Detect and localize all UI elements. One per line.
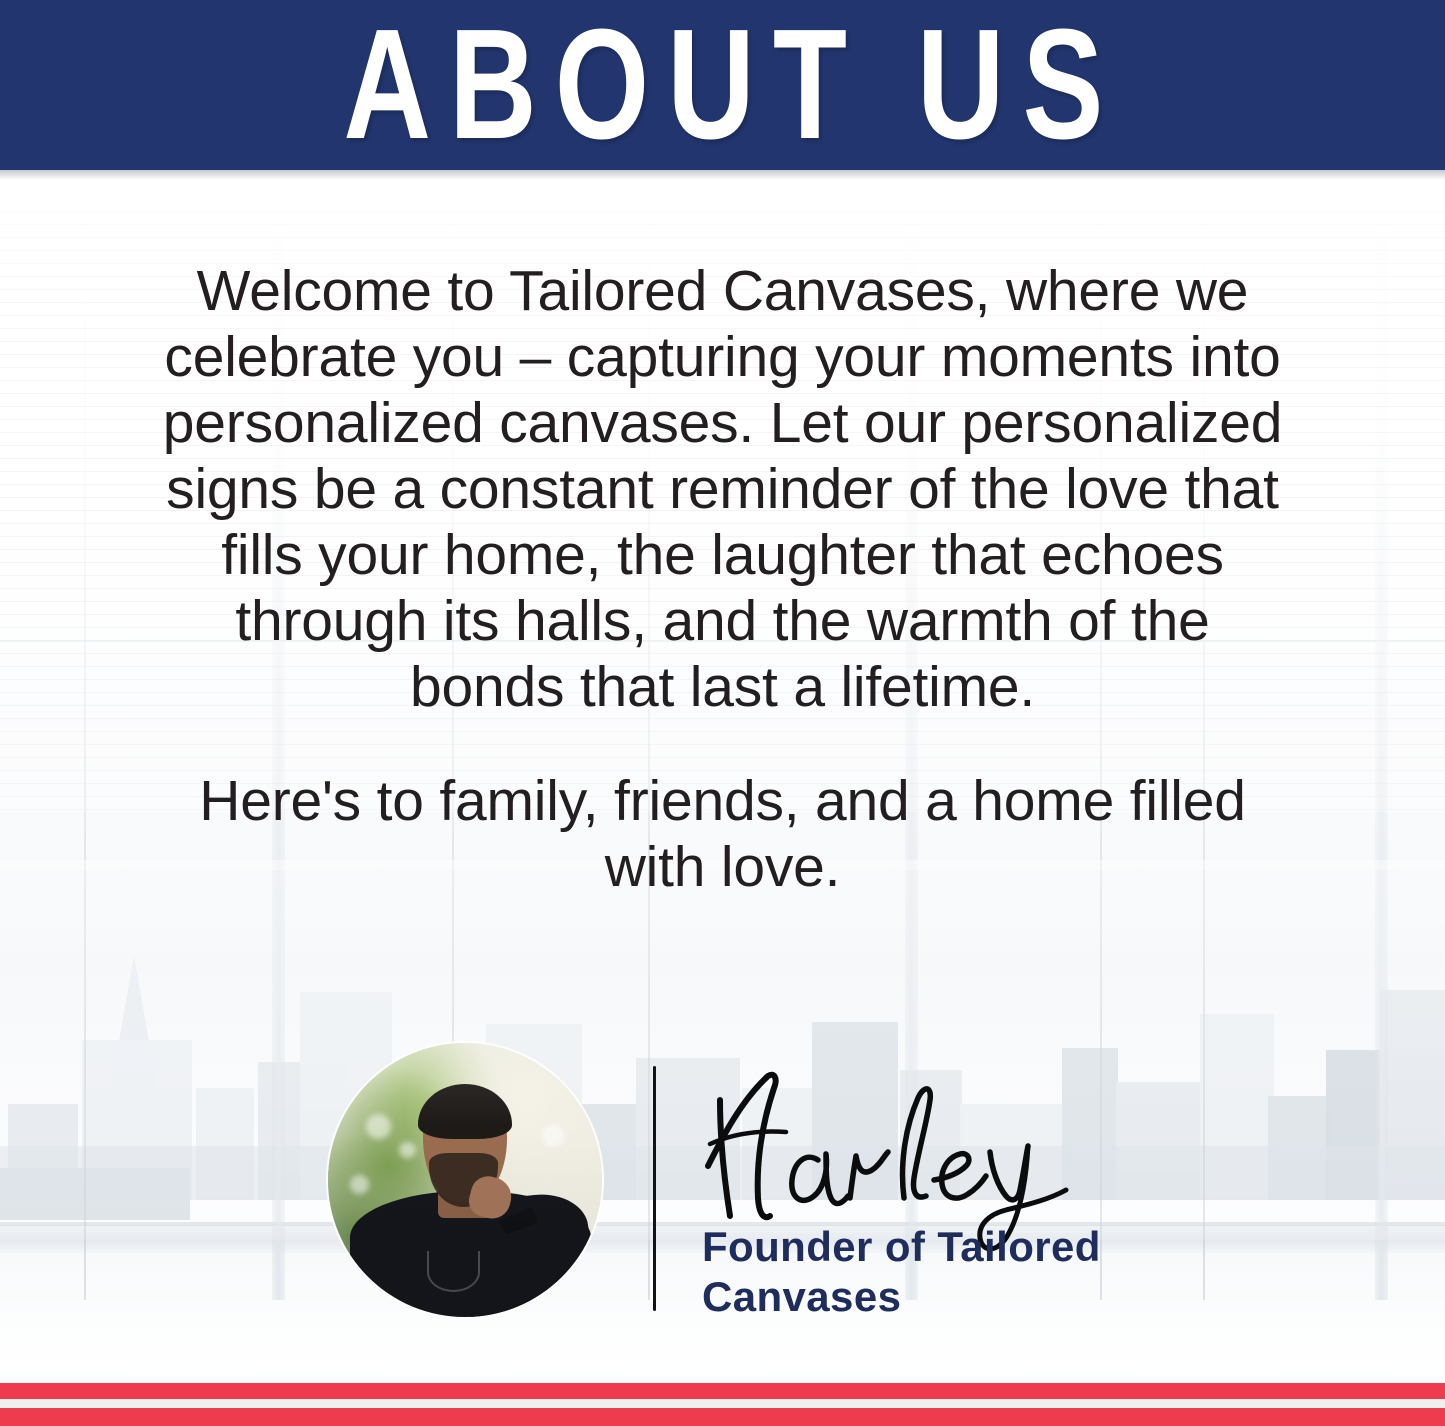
paragraph-spacer [0, 720, 1445, 768]
vertical-divider [653, 1066, 656, 1311]
footer-stripe-gap [0, 1399, 1445, 1408]
page-title: ABOUT US [343, 6, 1121, 165]
about-copy: Welcome to Tailored Canvases, where we c… [0, 258, 1445, 900]
header-banner: ABOUT US [0, 0, 1445, 170]
footer-stripe-top [0, 1383, 1445, 1399]
paragraph-intro: Welcome to Tailored Canvases, where we c… [0, 258, 1445, 720]
banner-shadow [0, 170, 1445, 180]
avatar [328, 1043, 602, 1317]
founder-photo [328, 1043, 602, 1317]
founder-title: Founder of Tailored Canvases [702, 1222, 1172, 1322]
about-us-poster: ABOUT US Welcome to Tailored Canvases, w… [0, 0, 1445, 1426]
paragraph-closing: Here's to family, friends, and a home fi… [0, 768, 1445, 900]
footer-stripe-bottom [0, 1408, 1445, 1426]
